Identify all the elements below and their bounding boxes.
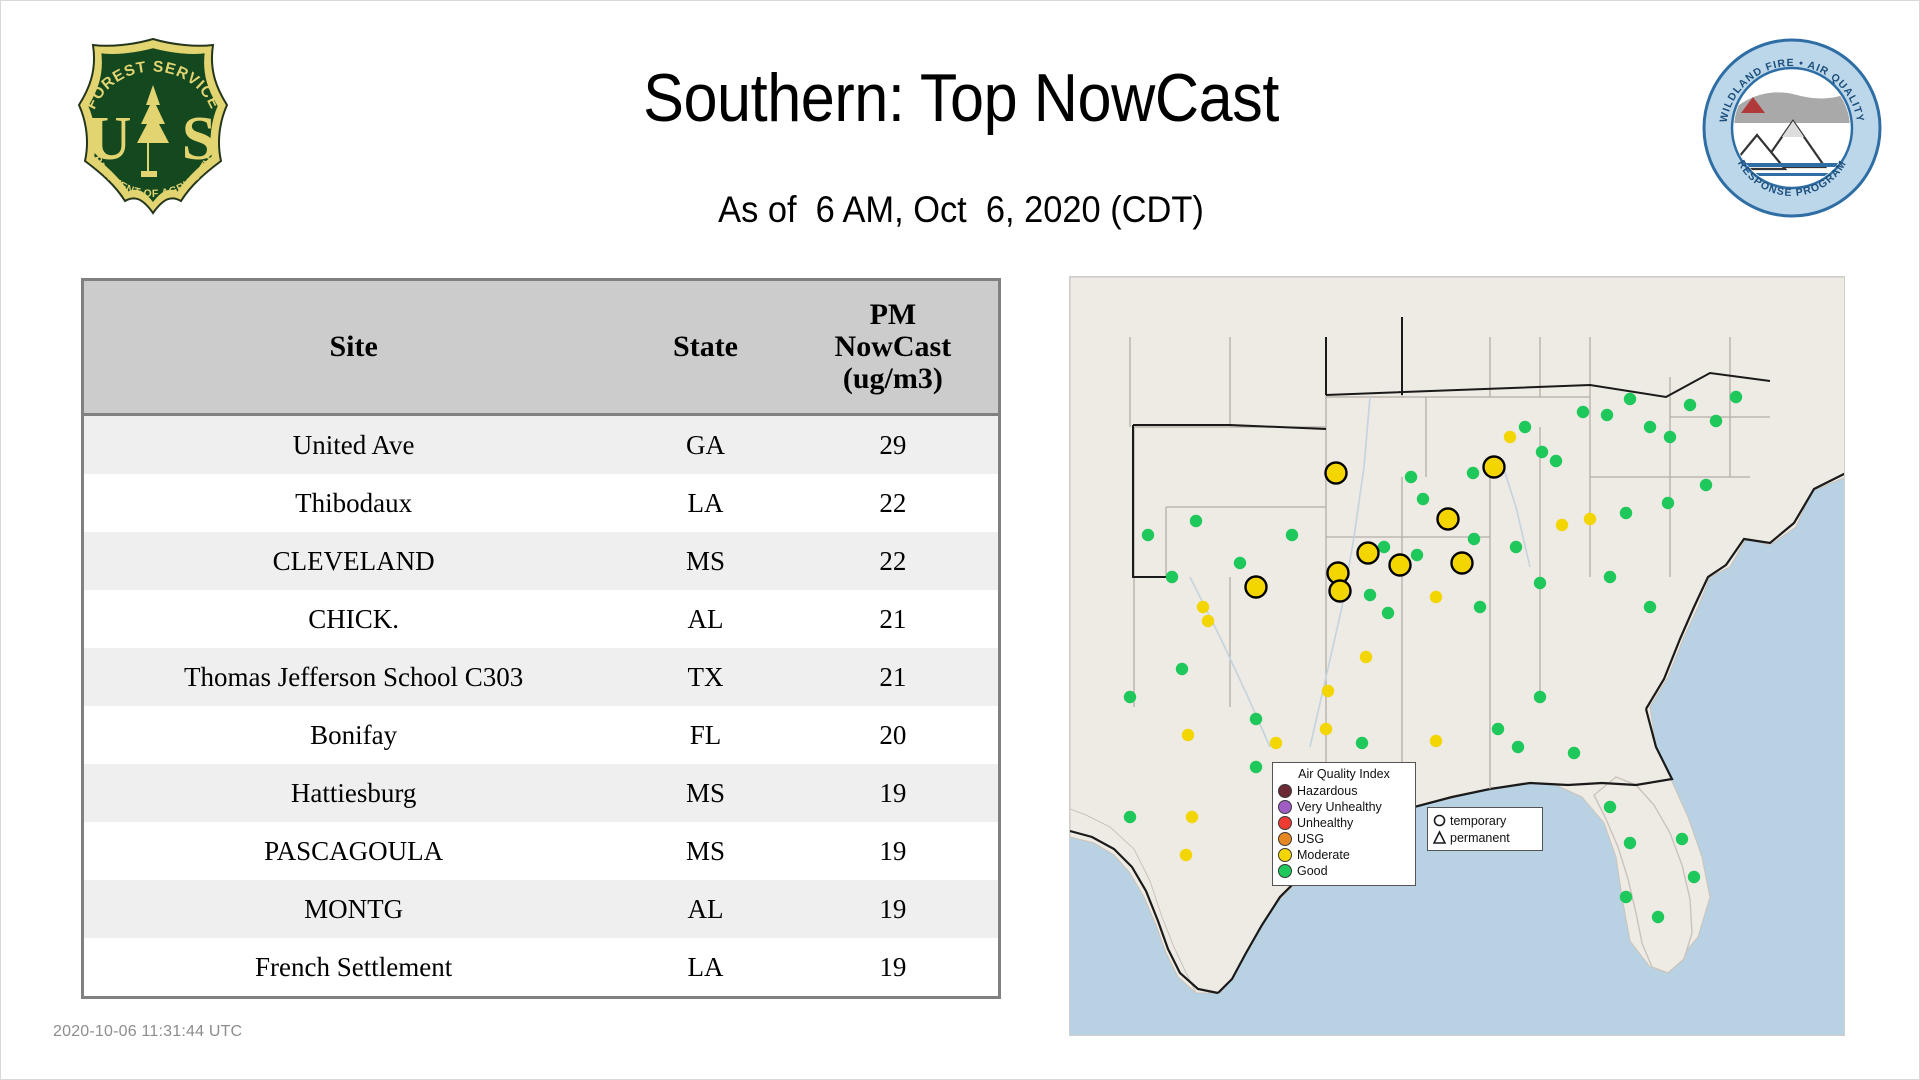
monitor-dot[interactable] bbox=[1190, 515, 1202, 527]
site-cell: United Ave bbox=[84, 415, 623, 475]
aqi-legend-label: USG bbox=[1297, 833, 1324, 846]
monitor-dot[interactable] bbox=[1250, 713, 1262, 725]
aqi-legend-row: USG bbox=[1278, 831, 1410, 847]
monitor-dot[interactable] bbox=[1250, 761, 1262, 773]
monitor-dot[interactable] bbox=[1320, 723, 1332, 735]
site-cell: CLEVELAND bbox=[84, 532, 623, 590]
monitor-dot[interactable] bbox=[1186, 811, 1198, 823]
column-header-pm-line3: (ug/m3) bbox=[792, 363, 994, 395]
monitor-dot[interactable] bbox=[1166, 571, 1178, 583]
state-cell: MS bbox=[623, 532, 788, 590]
table-row: CLEVELANDMS22 bbox=[84, 532, 998, 590]
value-cell: 19 bbox=[788, 822, 998, 880]
top-site-marker[interactable] bbox=[1390, 555, 1411, 576]
symbol-legend-row-temporary: temporary bbox=[1433, 812, 1537, 829]
monitor-dot[interactable] bbox=[1664, 431, 1676, 443]
monitor-dot[interactable] bbox=[1624, 837, 1636, 849]
svg-text:S: S bbox=[182, 105, 216, 173]
monitor-dot[interactable] bbox=[1467, 467, 1479, 479]
aqi-legend-swatch-icon bbox=[1278, 784, 1292, 798]
aqi-legend-swatch-icon bbox=[1278, 800, 1292, 814]
top-site-marker[interactable] bbox=[1438, 509, 1459, 530]
site-cell: French Settlement bbox=[84, 938, 623, 996]
symbol-legend-row-permanent: permanent bbox=[1433, 829, 1537, 846]
monitor-dot[interactable] bbox=[1584, 513, 1596, 525]
monitor-dot[interactable] bbox=[1556, 519, 1568, 531]
column-header-pm-nowcast: PM NowCast (ug/m3) bbox=[788, 281, 998, 415]
aqi-legend-row: Hazardous bbox=[1278, 783, 1410, 799]
table-row: PASCAGOULAMS19 bbox=[84, 822, 998, 880]
slide-canvas: FOREST SERVICE DEPARTMENT OF AGRICULTURE… bbox=[0, 0, 1920, 1080]
value-cell: 21 bbox=[788, 590, 998, 648]
monitor-dot[interactable] bbox=[1568, 747, 1580, 759]
monitor-dot[interactable] bbox=[1382, 607, 1394, 619]
aqi-legend-label: Unhealthy bbox=[1297, 817, 1353, 830]
top-site-marker[interactable] bbox=[1358, 543, 1379, 564]
monitor-dot[interactable] bbox=[1644, 601, 1656, 613]
monitor-dot[interactable] bbox=[1492, 723, 1504, 735]
top-site-marker[interactable] bbox=[1330, 581, 1351, 602]
site-cell: Hattiesburg bbox=[84, 764, 623, 822]
table-row: United AveGA29 bbox=[84, 415, 998, 475]
site-cell: PASCAGOULA bbox=[84, 822, 623, 880]
table-row: MONTGAL19 bbox=[84, 880, 998, 938]
aqi-legend-title: Air Quality Index bbox=[1278, 767, 1410, 781]
monitor-dot[interactable] bbox=[1322, 685, 1334, 697]
table-row: HattiesburgMS19 bbox=[84, 764, 998, 822]
monitor-dot[interactable] bbox=[1124, 811, 1136, 823]
aqi-legend-label: Moderate bbox=[1297, 849, 1350, 862]
aqi-legend-row: Very Unhealthy bbox=[1278, 799, 1410, 815]
table-row: ThibodauxLA22 bbox=[84, 474, 998, 532]
monitor-dot[interactable] bbox=[1652, 911, 1664, 923]
aqi-legend-label: Good bbox=[1297, 865, 1328, 878]
state-cell: MS bbox=[623, 822, 788, 880]
value-cell: 22 bbox=[788, 532, 998, 590]
state-cell: LA bbox=[623, 938, 788, 996]
aqi-legend-swatch-icon bbox=[1278, 816, 1292, 830]
monitor-dot[interactable] bbox=[1604, 801, 1616, 813]
monitor-dot[interactable] bbox=[1360, 651, 1372, 663]
monitor-dot[interactable] bbox=[1270, 737, 1282, 749]
permanent-triangle-icon bbox=[1433, 830, 1446, 845]
monitor-dot[interactable] bbox=[1197, 601, 1209, 613]
table-row: Thomas Jefferson School C303TX21 bbox=[84, 648, 998, 706]
state-cell: TX bbox=[623, 648, 788, 706]
monitor-dot[interactable] bbox=[1286, 529, 1298, 541]
value-cell: 20 bbox=[788, 706, 998, 764]
monitor-dot[interactable] bbox=[1474, 601, 1486, 613]
wfaqrp-seal-icon: WILDLAND FIRE • AIR QUALITY RESPONSE PRO… bbox=[1701, 37, 1883, 219]
monitor-dot[interactable] bbox=[1644, 421, 1656, 433]
top-site-marker[interactable] bbox=[1484, 457, 1505, 478]
monitor-dot[interactable] bbox=[1356, 737, 1368, 749]
monitor-dot[interactable] bbox=[1510, 541, 1522, 553]
table-row: CHICK.AL21 bbox=[84, 590, 998, 648]
value-cell: 21 bbox=[788, 648, 998, 706]
usda-forest-service-shield-icon: FOREST SERVICE DEPARTMENT OF AGRICULTURE… bbox=[53, 31, 253, 231]
monitor-dot[interactable] bbox=[1536, 446, 1548, 458]
page-title: Southern: Top NowCast bbox=[331, 59, 1591, 137]
state-cell: LA bbox=[623, 474, 788, 532]
aqi-legend-swatch-icon bbox=[1278, 832, 1292, 846]
monitor-dot[interactable] bbox=[1364, 589, 1376, 601]
table-header: Site State PM NowCast (ug/m3) bbox=[84, 281, 998, 415]
site-cell: MONTG bbox=[84, 880, 623, 938]
monitor-dot[interactable] bbox=[1468, 533, 1480, 545]
monitor-dot[interactable] bbox=[1662, 497, 1674, 509]
monitor-dot[interactable] bbox=[1710, 415, 1722, 427]
table-header-row: Site State PM NowCast (ug/m3) bbox=[84, 281, 998, 415]
monitor-dot[interactable] bbox=[1519, 421, 1531, 433]
monitor-dot[interactable] bbox=[1684, 399, 1696, 411]
column-header-state: State bbox=[623, 281, 788, 415]
aqi-legend-label: Very Unhealthy bbox=[1297, 801, 1382, 814]
monitor-dot[interactable] bbox=[1700, 479, 1712, 491]
svg-text:U: U bbox=[87, 105, 132, 173]
aqi-legend: Air Quality Index HazardousVery Unhealth… bbox=[1272, 762, 1416, 886]
monitor-dot[interactable] bbox=[1577, 406, 1589, 418]
top-site-marker[interactable] bbox=[1452, 553, 1473, 574]
map-canvas bbox=[1070, 277, 1845, 1036]
state-cell: MS bbox=[623, 764, 788, 822]
monitor-dot[interactable] bbox=[1534, 691, 1546, 703]
aqi-legend-swatch-icon bbox=[1278, 864, 1292, 878]
monitor-dot[interactable] bbox=[1688, 871, 1700, 883]
column-header-pm-line2: NowCast bbox=[792, 331, 994, 363]
monitor-dot[interactable] bbox=[1405, 471, 1417, 483]
aqi-legend-swatch-icon bbox=[1278, 848, 1292, 862]
monitor-dot[interactable] bbox=[1430, 591, 1442, 603]
state-cell: AL bbox=[623, 590, 788, 648]
monitor-dot[interactable] bbox=[1550, 455, 1562, 467]
page-subtitle: As of 6 AM, Oct 6, 2020 (CDT) bbox=[310, 189, 1612, 231]
monitor-dot[interactable] bbox=[1601, 409, 1613, 421]
value-cell: 19 bbox=[788, 880, 998, 938]
monitor-dot[interactable] bbox=[1182, 729, 1194, 741]
monitor-dot[interactable] bbox=[1411, 549, 1423, 561]
monitor-dot[interactable] bbox=[1730, 391, 1742, 403]
symbol-legend: temporary permanent bbox=[1427, 807, 1543, 851]
monitor-dot[interactable] bbox=[1417, 493, 1429, 505]
monitor-dot[interactable] bbox=[1378, 541, 1390, 553]
aqi-legend-row: Unhealthy bbox=[1278, 815, 1410, 831]
table-body: United AveGA29ThibodauxLA22CLEVELANDMS22… bbox=[84, 415, 998, 997]
monitor-dot[interactable] bbox=[1534, 577, 1546, 589]
aqi-legend-label: Hazardous bbox=[1297, 785, 1357, 798]
monitor-dot[interactable] bbox=[1202, 615, 1214, 627]
aqi-legend-row: Good bbox=[1278, 863, 1410, 879]
site-cell: Bonifay bbox=[84, 706, 623, 764]
aqi-legend-row: Moderate bbox=[1278, 847, 1410, 863]
footer-timestamp: 2020-10-06 11:31:44 UTC bbox=[53, 1023, 242, 1041]
monitor-dot[interactable] bbox=[1142, 529, 1154, 541]
monitor-dot[interactable] bbox=[1430, 735, 1442, 747]
symbol-legend-label-permanent: permanent bbox=[1450, 831, 1510, 845]
value-cell: 29 bbox=[788, 415, 998, 475]
value-cell: 19 bbox=[788, 764, 998, 822]
monitor-dot[interactable] bbox=[1176, 663, 1188, 675]
site-cell: Thomas Jefferson School C303 bbox=[84, 648, 623, 706]
monitor-dot[interactable] bbox=[1234, 557, 1246, 569]
value-cell: 22 bbox=[788, 474, 998, 532]
monitor-dot[interactable] bbox=[1676, 833, 1688, 845]
table-row: French SettlementLA19 bbox=[84, 938, 998, 996]
site-cell: CHICK. bbox=[84, 590, 623, 648]
monitor-dot[interactable] bbox=[1620, 507, 1632, 519]
monitor-dot[interactable] bbox=[1604, 571, 1616, 583]
symbol-legend-label-temporary: temporary bbox=[1450, 814, 1506, 828]
temporary-circle-icon bbox=[1433, 813, 1446, 828]
state-cell: AL bbox=[623, 880, 788, 938]
monitor-dot[interactable] bbox=[1620, 891, 1632, 903]
column-header-site: Site bbox=[84, 281, 623, 415]
monitor-dot[interactable] bbox=[1512, 741, 1524, 753]
monitor-map[interactable]: Air Quality Index HazardousVery Unhealth… bbox=[1069, 276, 1845, 1036]
monitor-dot[interactable] bbox=[1124, 691, 1136, 703]
state-cell: GA bbox=[623, 415, 788, 475]
table-row: BonifayFL20 bbox=[84, 706, 998, 764]
monitor-dot[interactable] bbox=[1504, 431, 1516, 443]
column-header-pm-line1: PM bbox=[792, 299, 994, 331]
top-site-marker[interactable] bbox=[1246, 577, 1267, 598]
site-cell: Thibodaux bbox=[84, 474, 623, 532]
value-cell: 19 bbox=[788, 938, 998, 996]
monitor-dot[interactable] bbox=[1180, 849, 1192, 861]
state-cell: FL bbox=[623, 706, 788, 764]
nowcast-table: Site State PM NowCast (ug/m3) United Ave… bbox=[84, 281, 998, 996]
nowcast-table-container: Site State PM NowCast (ug/m3) United Ave… bbox=[81, 278, 1001, 999]
top-site-marker[interactable] bbox=[1326, 463, 1347, 484]
monitor-dot[interactable] bbox=[1624, 393, 1636, 405]
